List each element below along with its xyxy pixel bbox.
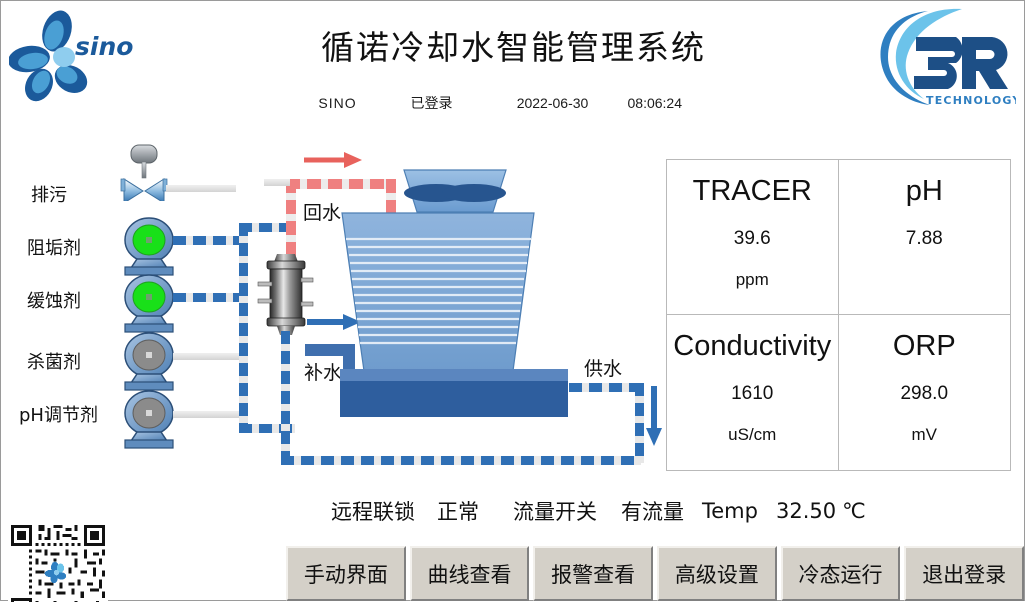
measurement-cell-conductivity: Conductivity 1610 uS/cm	[667, 315, 839, 470]
flow-label-supply: 供水	[584, 354, 622, 381]
measurement-unit: mV	[912, 425, 938, 445]
chem-label-blowdown: 排污	[31, 181, 67, 207]
pipe-bottom-loop	[281, 456, 641, 465]
pipe-corrosion-inhibitor-active	[173, 293, 243, 302]
advanced-settings-button[interactable]: 高级设置	[657, 546, 777, 601]
measurement-cell-ph: pH 7.88	[839, 160, 1011, 315]
flow-switch-value: 有流量	[621, 496, 684, 526]
measurement-name: TRACER	[693, 176, 812, 208]
current-time: 08:06:24	[628, 95, 738, 111]
measurement-unit: ppm	[736, 270, 769, 290]
basin-rim	[340, 369, 568, 383]
remote-interlock-value: 正常	[437, 496, 479, 526]
pipe-analyzer-return-vertical	[281, 331, 290, 463]
bottom-status-bar: 远程联锁 正常 流量开关 有流量 Temp 32.50 ℃	[331, 494, 1021, 528]
3r-technology-logo: TECHNOLOGY	[866, 3, 1016, 115]
pipe-return-stub	[264, 179, 290, 186]
measurement-value: 1610	[731, 383, 773, 405]
chem-label-antiscalant: 阻垢剂	[27, 234, 81, 260]
login-state: 已登录	[386, 93, 478, 113]
manual-interface-button[interactable]: 手动界面	[286, 546, 406, 601]
measurement-value: 298.0	[900, 383, 948, 405]
dosing-pump-ph-adjuster[interactable]	[119, 389, 181, 449]
measurement-unit: uS/cm	[728, 425, 776, 445]
blowdown-valve[interactable]	[119, 143, 189, 201]
cooling-water-hmi-screen: sino 循诺冷却水智能管理系统 SINO 已登录 2022-06-30 08:…	[0, 0, 1025, 601]
flow-switch-label: 流量开关	[513, 496, 597, 526]
pipe-ph-adjuster-idle	[173, 411, 243, 418]
measurement-name: ORP	[893, 331, 956, 363]
dosing-pump-antiscalant[interactable]	[119, 216, 181, 276]
pipe-return-vertical	[286, 179, 296, 257]
measurement-name: Conductivity	[673, 331, 831, 363]
logout-button[interactable]: 退出登录	[904, 546, 1024, 601]
pipe-blowdown	[166, 185, 236, 192]
dosing-pump-biocide[interactable]	[119, 331, 181, 391]
flow-label-makeup: 补水	[304, 358, 342, 385]
qr-code	[3, 522, 113, 602]
temperature-label: Temp	[702, 499, 758, 523]
current-date: 2022-06-30	[478, 95, 628, 111]
trend-view-button[interactable]: 曲线查看	[410, 546, 530, 601]
pipe-dosing-riser	[239, 223, 248, 433]
supply-flow-arrow-icon	[645, 386, 663, 448]
measurement-cell-orp: ORP 298.0 mV	[839, 315, 1011, 470]
basin-body	[340, 381, 568, 417]
pipe-antiscalant-active	[173, 236, 243, 245]
cold-start-button[interactable]: 冷态运行	[781, 546, 901, 601]
measurement-panel: TRACER 39.6 ppm pH 7.88 Conductivity 161…	[666, 159, 1011, 471]
cooling-tower	[338, 167, 608, 417]
3r-logo-subtitle: TECHNOLOGY	[926, 94, 1016, 107]
fan-blade-right	[442, 184, 506, 202]
chem-label-biocide: 杀菌剂	[27, 348, 81, 374]
logged-user: SINO	[290, 95, 386, 111]
alarm-view-button[interactable]: 报警查看	[533, 546, 653, 601]
temperature-value: 32.50	[776, 499, 836, 523]
pipe-supply-horizontal	[569, 383, 644, 392]
measurement-cell-tracer: TRACER 39.6 ppm	[667, 160, 839, 315]
tower-body	[342, 213, 534, 371]
measurement-value: 39.6	[734, 228, 771, 250]
temperature-unit: ℃	[842, 499, 866, 523]
chem-label-corrosion-inhibitor: 缓蚀剂	[27, 287, 81, 313]
measurement-name: pH	[906, 176, 943, 208]
remote-interlock-label: 远程联锁	[331, 496, 415, 526]
bottom-button-bar: 手动界面 曲线查看 报警查看 高级设置 冷态运行 退出登录	[286, 546, 1024, 601]
measurement-value: 7.88	[906, 228, 943, 250]
pipe-supply-vertical	[635, 383, 644, 463]
flow-label-return: 回水	[303, 198, 341, 225]
chem-label-ph-adjuster: pH调节剂	[19, 401, 98, 427]
dosing-pump-corrosion-inhibitor[interactable]	[119, 273, 181, 333]
pipe-biocide-idle	[173, 353, 243, 360]
